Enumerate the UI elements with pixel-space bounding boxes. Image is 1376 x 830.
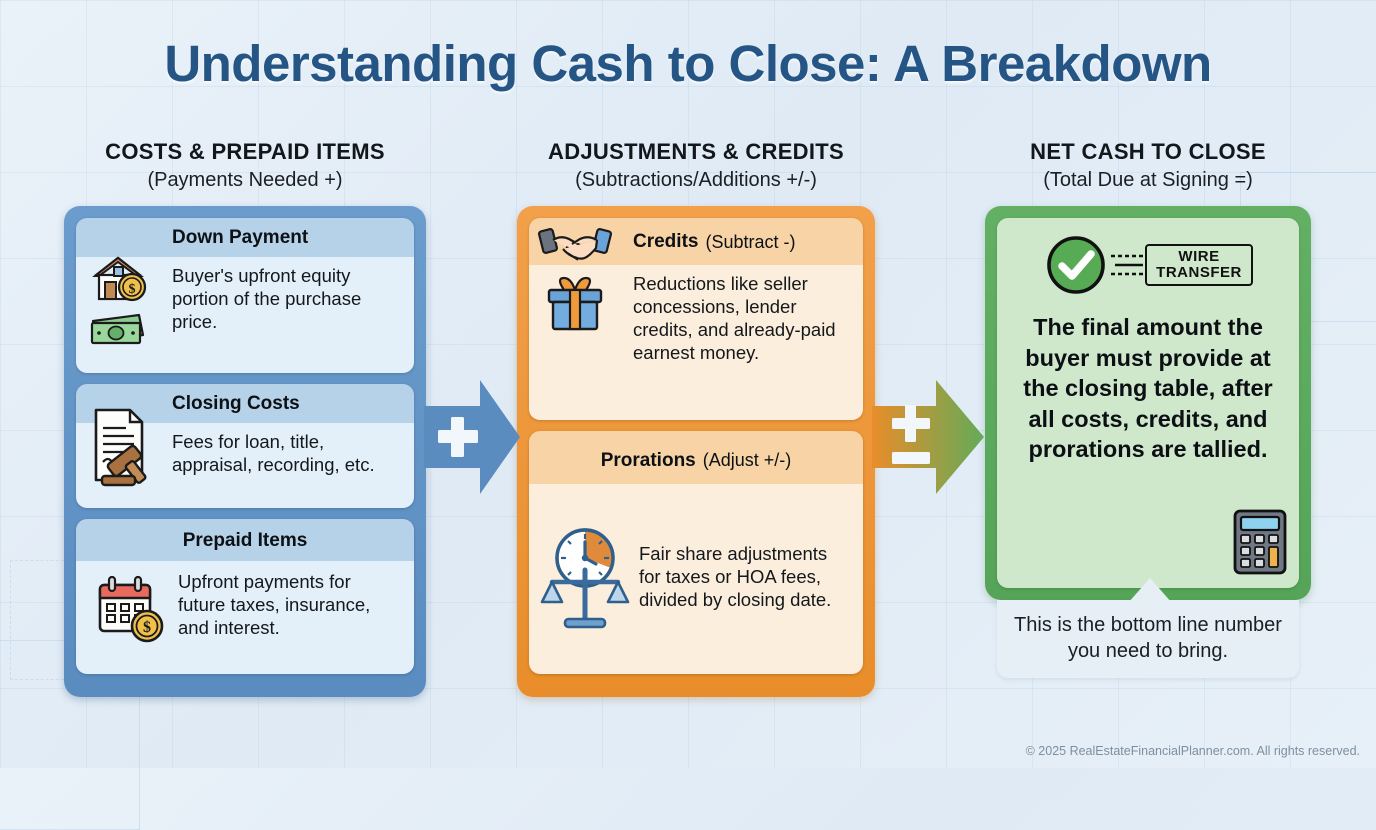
card-title-note: (Adjust +/-) [703, 450, 792, 471]
closing-costs-icons [76, 384, 160, 508]
card-title-text: Closing Costs [172, 393, 300, 415]
down-payment-text: Down Payment Buyer's upfront equity port… [160, 218, 414, 373]
card-down-payment[interactable]: $ Down Payment Buyer's upfront equity po… [76, 218, 414, 373]
wire-label-line1: WIRE [1156, 249, 1242, 265]
net-cash-statement: The final amount the buyer must provide … [1013, 312, 1283, 465]
gift-box-icon [542, 274, 608, 334]
card-title-text: Credits [633, 231, 698, 253]
card-title: Prorations (Adjust +/-) [529, 431, 863, 484]
calculator-icon [1231, 507, 1289, 582]
minus-bar [892, 452, 930, 464]
footer-copyright: © 2025 RealEstateFinancialPlanner.com. A… [1026, 744, 1360, 758]
card-body-text: Buyer's upfront equity portion of the pu… [172, 265, 402, 334]
wire-transfer-badge: WIRE TRANSFER [1043, 232, 1253, 298]
card-body-text: Reductions like seller concessions, lend… [633, 273, 851, 365]
card-body: Buyer's upfront equity portion of the pu… [160, 257, 414, 373]
check-circle-icon [1043, 232, 1109, 298]
card-credits[interactable]: Credits (Subtract -) Reductions like sel… [529, 218, 863, 420]
svg-text:$: $ [143, 619, 151, 636]
svg-text:$: $ [129, 282, 136, 297]
net-panel-notch [1128, 578, 1172, 603]
card-title-text: Prepaid Items [183, 530, 308, 552]
card-title-text: Down Payment [172, 227, 308, 249]
panel-adjustments-credits: Credits (Subtract -) Reductions like sel… [517, 206, 875, 697]
plus-arrow-connector [424, 378, 520, 496]
handshake-icon [537, 222, 613, 268]
card-title-note: (Subtract -) [705, 232, 795, 253]
card-body: Fees for loan, title, appraisal, recordi… [160, 423, 414, 508]
plus-minus-arrow-connector [872, 378, 984, 496]
prorations-icons [537, 524, 633, 632]
column-header-adjustments: ADJUSTMENTS & CREDITS (Subtractions/Addi… [517, 138, 875, 194]
card-prepaid-items[interactable]: Prepaid Items $ Upf [76, 519, 414, 674]
card-body-text: Upfront payments for future taxes, insur… [178, 571, 370, 638]
cash-bills-icon [87, 307, 149, 347]
column-heading: NET CASH TO CLOSE [985, 138, 1311, 166]
card-title: Closing Costs [160, 384, 414, 423]
card-body-text: Fees for loan, title, appraisal, recordi… [172, 431, 402, 477]
prepaid-items-text: Upfront payments for future taxes, insur… [178, 571, 402, 640]
net-cash-card[interactable]: WIRE TRANSFER The final amount the buyer… [997, 218, 1299, 588]
column-header-costs: COSTS & PREPAID ITEMS (Payments Needed +… [64, 138, 426, 194]
credits-text: Credits (Subtract -) Reductions like sel… [621, 218, 863, 420]
column-subheading: (Subtractions/Additions +/-) [517, 167, 875, 194]
plus-vertical [451, 417, 464, 457]
column-header-net: NET CASH TO CLOSE (Total Due at Signing … [985, 138, 1311, 194]
calendar-coin-icon: $ [92, 571, 168, 647]
closing-costs-text: Closing Costs Fees for loan, title, appr… [160, 384, 414, 508]
wire-label-line2: TRANSFER [1156, 265, 1242, 281]
card-body: Fair share adjustments for taxes or HOA … [529, 484, 863, 674]
column-subheading: (Payments Needed +) [64, 167, 426, 194]
column-heading: ADJUSTMENTS & CREDITS [517, 138, 875, 166]
page-title: Understanding Cash to Close: A Breakdown [0, 34, 1376, 93]
prepaid-items-icons: $ [88, 571, 172, 647]
column-subheading: (Total Due at Signing =) [985, 167, 1311, 194]
clock-scales-icon [539, 524, 631, 632]
credits-icons [529, 218, 621, 420]
signal-lines-icon [1109, 245, 1145, 285]
card-body: $ Upfront payments for future taxes, ins… [76, 561, 414, 674]
document-gavel-icon [82, 400, 154, 492]
card-title: Down Payment [160, 218, 414, 257]
net-cash-caption: This is the bottom line number you need … [997, 600, 1299, 678]
card-body: Reductions like seller concessions, lend… [621, 265, 863, 420]
card-title: Prepaid Items [76, 519, 414, 561]
card-title-text: Prorations [601, 450, 696, 472]
card-title: Credits (Subtract -) [621, 218, 863, 265]
column-heading: COSTS & PREPAID ITEMS [64, 138, 426, 166]
panel-net-cash-to-close: WIRE TRANSFER The final amount the buyer… [985, 206, 1311, 600]
house-coin-icon: $ [87, 249, 149, 305]
panel-costs-prepaid-items: $ Down Payment Buyer's upfront equity po… [64, 206, 426, 697]
card-closing-costs[interactable]: Closing Costs Fees for loan, title, appr… [76, 384, 414, 508]
plus-vertical [905, 405, 916, 442]
down-payment-icons: $ [76, 218, 160, 373]
prorations-text: Fair share adjustments for taxes or HOA … [639, 543, 851, 612]
card-body-text: Fair share adjustments for taxes or HOA … [639, 543, 831, 610]
card-prorations[interactable]: Prorations (Adjust +/-) [529, 431, 863, 674]
